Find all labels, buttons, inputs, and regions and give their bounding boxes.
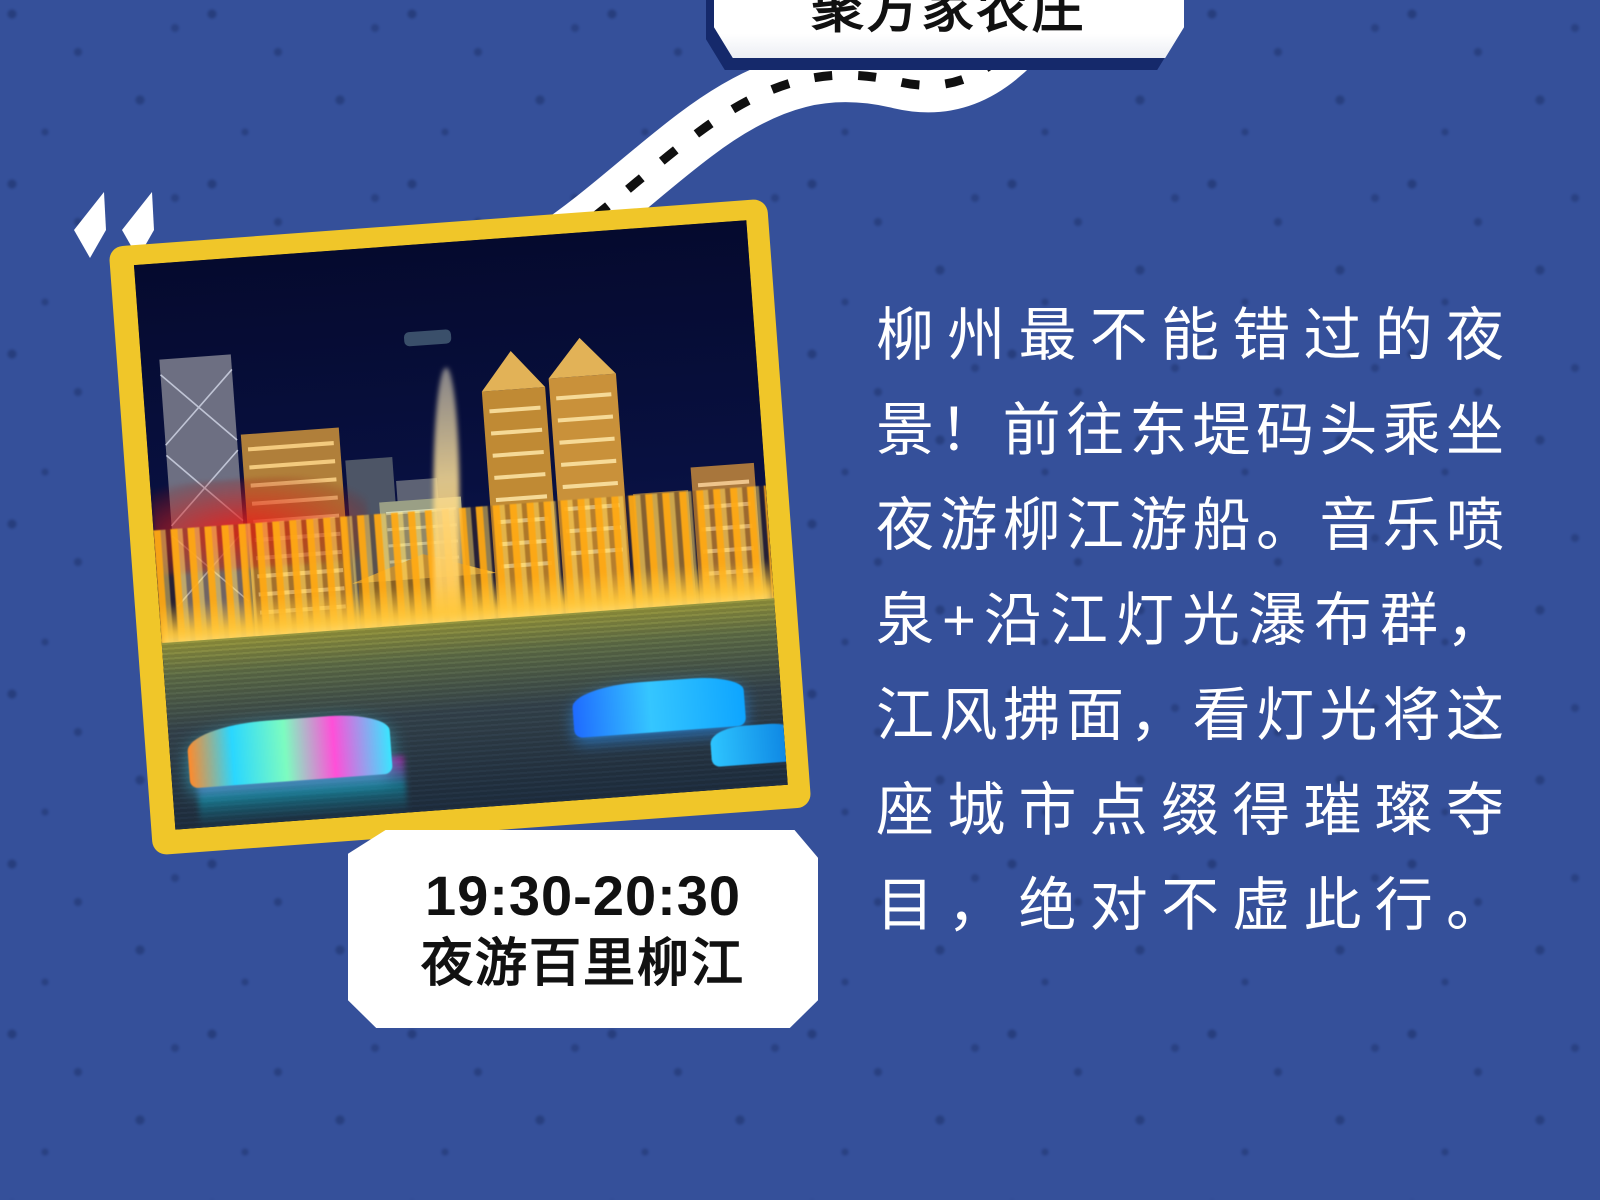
activity-name: 夜游百里柳江 [421, 938, 745, 990]
activity-time: 19:30-20:30 [425, 868, 741, 924]
night-cityscape-photo [134, 220, 788, 829]
poster-canvas: 聚方家农庄 [0, 0, 1600, 1200]
title-banner-face: 聚方家农庄 [714, 0, 1184, 58]
photo-card[interactable] [109, 199, 812, 856]
schedule-caption-card: 19:30-20:30 夜游百里柳江 [348, 830, 818, 1028]
title-banner: 聚方家农庄 [714, 0, 1184, 58]
description-paragraph: 柳州最不能错过的夜景！前往东堤码头乘坐夜游柳江游船。音乐喷泉+沿江灯光瀑布群，江… [876, 288, 1508, 1048]
page-title: 聚方家农庄 [811, 0, 1086, 58]
